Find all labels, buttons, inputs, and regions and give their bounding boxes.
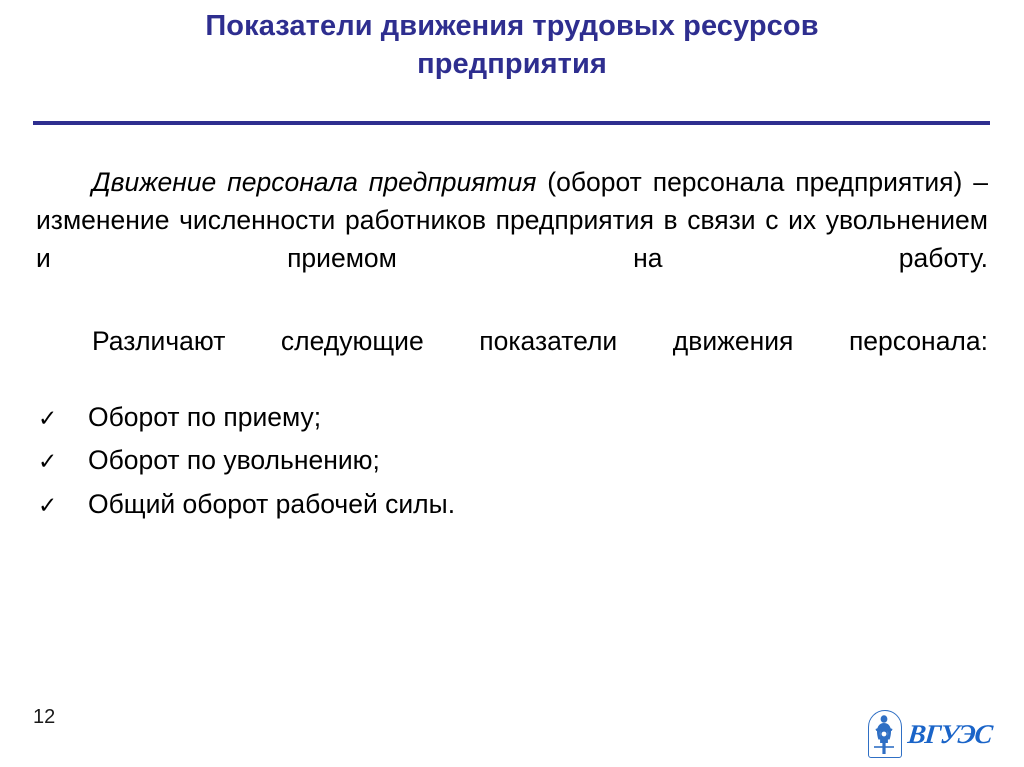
list-item: ✓ Оборот по увольнению; (36, 447, 988, 474)
check-icon: ✓ (38, 450, 88, 473)
title-divider (33, 121, 990, 125)
emblem-figure-icon (871, 713, 899, 755)
title-line-2: предприятия (36, 46, 988, 84)
list-item-label: Оборот по приему; (88, 404, 988, 431)
indicators-list: ✓ Оборот по приему; ✓ Оборот по увольнен… (36, 404, 988, 518)
page-title: Показатели движения трудовых ресурсов пр… (36, 8, 988, 83)
university-emblem-icon (868, 710, 902, 758)
vgues-logo: ВГУЭС (868, 706, 1008, 762)
check-icon: ✓ (38, 407, 88, 430)
check-icon: ✓ (38, 494, 88, 517)
definition-term: Движение персонала предприятия (92, 167, 536, 197)
list-item: ✓ Общий оборот рабочей силы. (36, 491, 988, 518)
title-line-1: Показатели движения трудовых ресурсов (36, 8, 988, 46)
paragraph-definition: Движение персонала предприятия (оборот п… (36, 163, 988, 316)
slide-body: Движение персонала предприятия (оборот п… (36, 163, 988, 534)
paragraph-intro: Различают следующие показатели движения … (36, 322, 988, 398)
list-item: ✓ Оборот по приему; (36, 404, 988, 431)
list-item-label: Оборот по увольнению; (88, 447, 988, 474)
slide: Показатели движения трудовых ресурсов пр… (0, 0, 1024, 767)
page-number: 12 (33, 706, 55, 729)
logo-wordmark: ВГУЭС (907, 721, 994, 748)
list-item-label: Общий оборот рабочей силы. (88, 491, 988, 518)
